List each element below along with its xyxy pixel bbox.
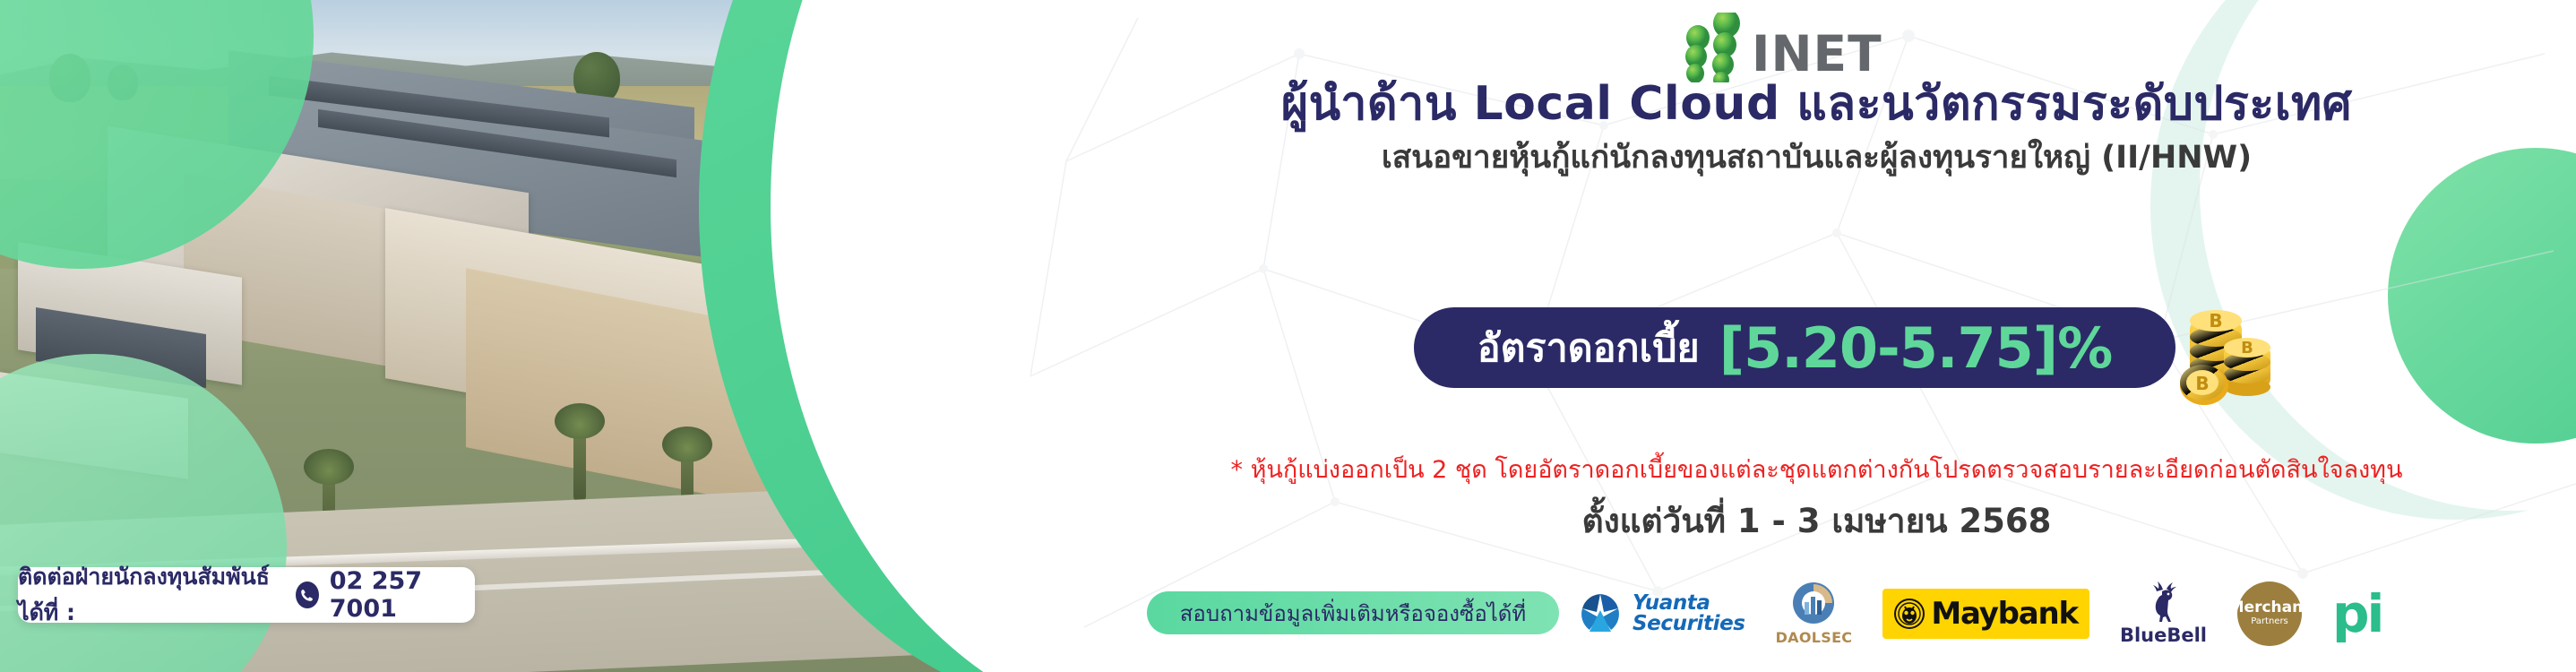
inquire-subscribe-button[interactable]: สอบถามข้อมูลเพิ่มเติมหรือจองซื้อได้ที่ [1147,591,1559,634]
yuanta-line1: Yuanta [1633,593,1745,614]
palm-crown [662,426,712,462]
yuanta-line2: Securities [1633,614,1745,634]
banner-content: INET ผู้นำด้าน Local Cloud และนวัตกรรมระ… [1057,0,2576,672]
inet-logo-text: INET [1752,25,1882,82]
offer-date-range: ตั้งแต่วันที่ 1 - 3 เมษายน 2568 [1057,495,2576,547]
interest-rate-box: อัตราดอกเบี้ย [5.20-5.75]% [1414,307,2175,388]
partner-logos: Yuanta Securities DAOLSEC [1577,575,2572,652]
partner-logo-bluebell[interactable]: BlueBell [2120,579,2207,649]
interest-rate-value: [5.20-5.75]% [1719,315,2112,381]
inet-dots-logo-icon [1678,13,1759,82]
inet-logo: INET [1678,13,1992,82]
disclaimer-text: * หุ้นกู้แบ่งออกเป็น 2 ชุด โดยอัตราดอกเบ… [1057,450,2576,488]
partner-logo-maybank[interactable]: Maybank [1882,579,2089,649]
contact-phone-number: 02 257 7001 [330,567,475,623]
daol-sub: SEC [1821,629,1852,646]
merchant-circle-icon: Merchant Partners [2237,582,2302,646]
merchant-main: Merchant [2229,600,2311,616]
palm-crown [555,403,605,439]
daol-main: DAOL [1776,629,1822,646]
pi-wordmark: pi [2332,593,2382,634]
phone-icon [296,582,319,608]
partner-logo-daol[interactable]: DAOLSEC [1776,579,1853,649]
partner-logo-yuanta[interactable]: Yuanta Securities [1577,579,1745,649]
contact-label: ติดต่อฝ่ายนักลงทุนสัมพันธ์ได้ที่ : [18,559,285,631]
gold-coins-icon: B B B [2158,296,2292,408]
maybank-wordmark: Maybank [1931,596,2078,632]
bluebell-wordmark: BlueBell [2120,625,2207,646]
yuanta-star-icon [1577,590,1624,637]
daol-wordmark: DAOLSEC [1776,629,1853,646]
merchant-sub: Partners [2251,616,2288,628]
daol-pie-icon [1788,579,1839,627]
svg-text:B: B [2195,373,2209,394]
maybank-tiger-icon [1894,599,1925,629]
yuanta-wordmark: Yuanta Securities [1633,593,1745,634]
partner-logo-merchant[interactable]: Merchant Partners [2237,579,2302,649]
svg-text:B: B [2209,310,2222,332]
interest-rate-label: อัตราดอกเบี้ย [1478,317,1700,378]
partner-logo-pi[interactable]: pi [2332,579,2382,649]
palm-crown [304,449,354,485]
page-title: ผู้นำด้าน Local Cloud และนวัตกรรมระดับปร… [1057,79,2576,130]
page-subtitle: เสนอขายหุ้นกู้แก่นักลงทุนสถาบันและผู้ลงท… [1057,139,2576,177]
svg-text:B: B [2241,339,2253,358]
bluebell-deer-icon [2140,579,2186,624]
investor-relations-contact[interactable]: ติดต่อฝ่ายนักลงทุนสัมพันธ์ได้ที่ : 02 25… [18,567,475,623]
promo-banner: INET ผู้นำด้าน Local Cloud และนวัตกรรมระ… [0,0,2576,672]
